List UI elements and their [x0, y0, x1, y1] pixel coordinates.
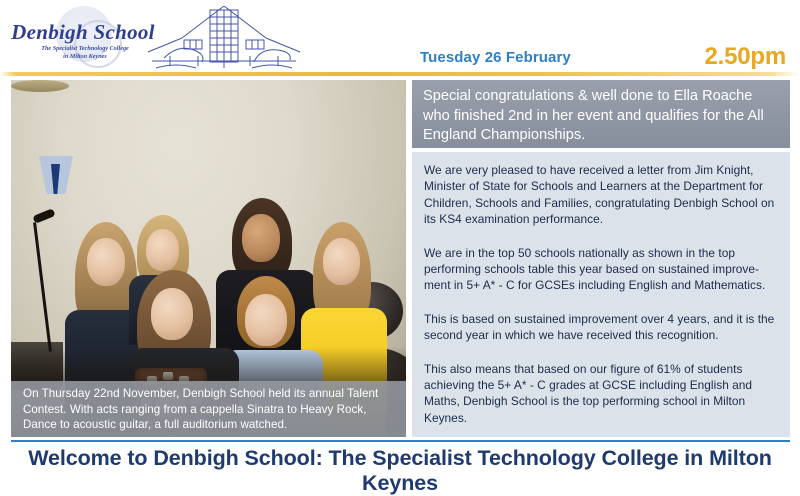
face: [245, 294, 287, 346]
digital-signage-slide: Denbigh School The Specialist Technology…: [0, 0, 800, 480]
school-logo: Denbigh School The Specialist Technology…: [8, 6, 158, 68]
article-paragraph-3: This is based on sustained improvement o…: [424, 311, 778, 344]
article-paragraph-1: We are very pleased to have received a l…: [424, 162, 778, 228]
logo-subtitle-line-2: in Milton Keynes: [63, 53, 107, 60]
footer-welcome-message: Welcome to Denbigh School: The Specialis…: [0, 446, 800, 496]
face: [87, 238, 125, 286]
face: [323, 238, 360, 285]
drum-cymbal: [11, 80, 69, 92]
article-paragraph-4: This also means that based on our figure…: [424, 361, 778, 427]
photo-caption-overlay: On Thursday 22nd November, Denbigh Schoo…: [11, 381, 406, 437]
article-panel: We are very pleased to have received a l…: [412, 152, 790, 437]
logo-school-subtitle: The Specialist Technology College in Mil…: [20, 45, 150, 61]
article-paragraph-2: We are in the top 50 schools nationally …: [424, 245, 778, 294]
face: [151, 288, 193, 340]
headline-banner: Special congratulations & well done to E…: [412, 80, 790, 148]
headline-text: Special congratulations & well done to E…: [423, 87, 778, 146]
footer-divider-rule: [11, 440, 790, 442]
face: [146, 229, 179, 271]
logo-subtitle-line-1: The Specialist Technology College: [41, 45, 129, 52]
header: Denbigh School The Specialist Technology…: [0, 0, 800, 74]
date-label: Tuesday 26 February: [420, 49, 571, 66]
gold-divider-rule: [0, 72, 800, 76]
logo-school-name: Denbigh School: [10, 20, 156, 45]
face: [242, 214, 280, 262]
school-building-icon: [146, 4, 302, 70]
time-label: 2.50pm: [704, 43, 786, 71]
photo-caption-text: On Thursday 22nd November, Denbigh Schoo…: [23, 386, 396, 433]
